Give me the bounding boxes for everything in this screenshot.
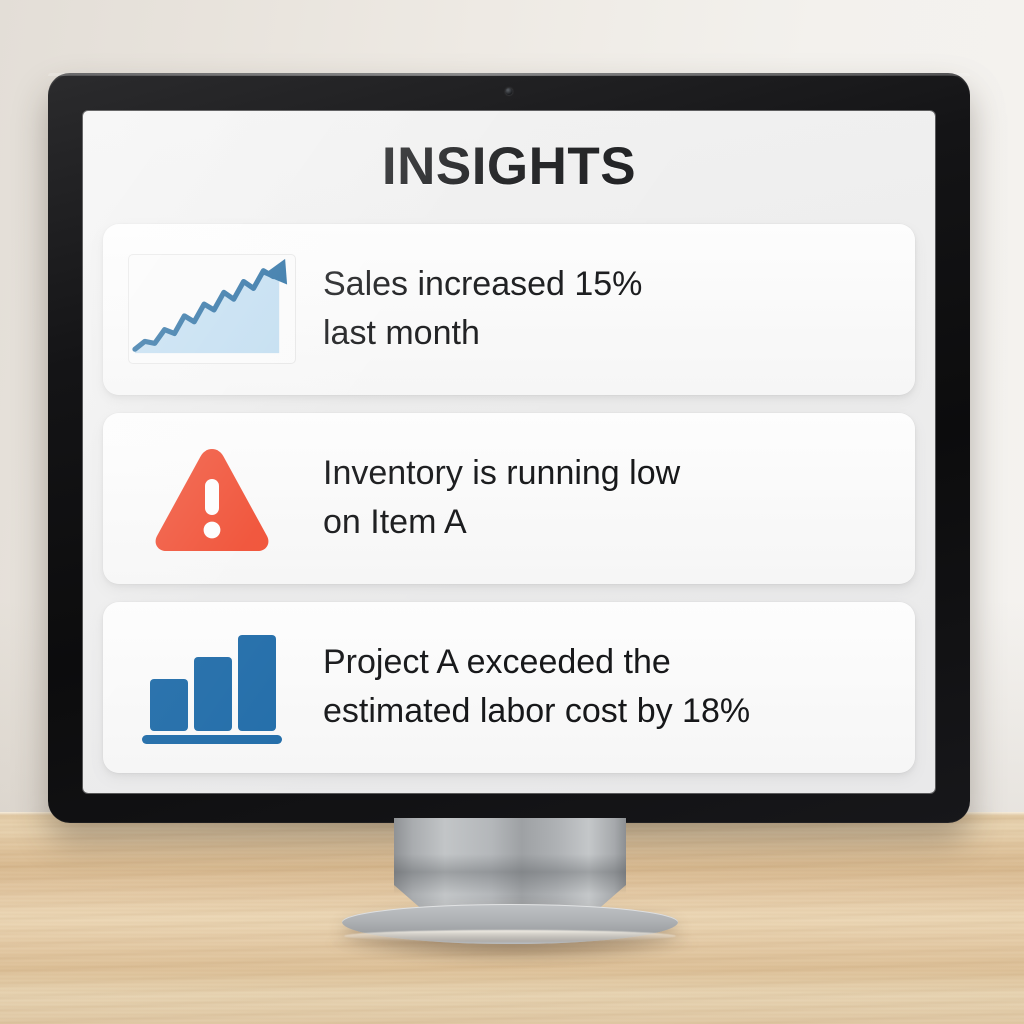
insight-text: Sales increased 15% last month bbox=[323, 260, 893, 359]
bar-chart-icon bbox=[132, 627, 292, 747]
insights-app: INSIGHTS bbox=[83, 111, 935, 793]
monitor-screen: INSIGHTS bbox=[83, 111, 935, 793]
icon-slot bbox=[127, 627, 297, 747]
stand-base-edge bbox=[344, 930, 676, 942]
icon-slot bbox=[127, 254, 297, 364]
monitor-scene: INSIGHTS bbox=[0, 0, 1024, 1024]
insight-text: Project A exceeded the estimated labor c… bbox=[323, 638, 893, 737]
stand-neck-shading bbox=[394, 854, 626, 894]
page-title: INSIGHTS bbox=[103, 127, 915, 202]
bezel-top-highlight bbox=[48, 73, 970, 76]
line-chart-up-icon bbox=[128, 254, 296, 364]
icon-slot bbox=[127, 442, 297, 554]
monitor-stand bbox=[342, 818, 678, 948]
insight-card-inventory[interactable]: Inventory is running low on Item A bbox=[103, 413, 915, 584]
warning-triangle-icon bbox=[151, 442, 273, 554]
insights-list: Sales increased 15% last month bbox=[103, 224, 915, 773]
insight-card-sales[interactable]: Sales increased 15% last month bbox=[103, 224, 915, 395]
insight-card-project[interactable]: Project A exceeded the estimated labor c… bbox=[103, 602, 915, 773]
webcam-icon bbox=[506, 88, 513, 95]
insight-text: Inventory is running low on Item A bbox=[323, 449, 893, 548]
monitor: INSIGHTS bbox=[48, 73, 970, 823]
